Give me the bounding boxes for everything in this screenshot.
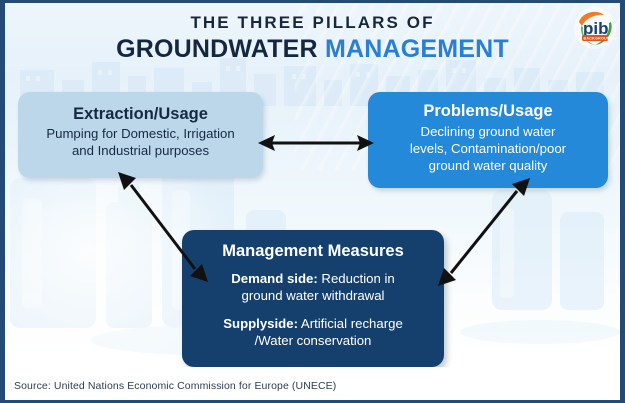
page-title: THE THREE PILLARS OF GROUNDWATER MANAGEM…: [0, 14, 625, 62]
source-attribution: Source: United Nations Economic Commissi…: [14, 380, 336, 392]
pillar-title-problems: Problems/Usage: [378, 102, 598, 121]
problems-line-2: levels, Contamination/poor: [410, 141, 566, 156]
management-demand-label: Demand side:: [231, 271, 317, 286]
pillar-title-management: Management Measures: [192, 242, 434, 261]
double-headed-diagonal-arrow-left-icon: [118, 172, 208, 282]
pillar-body-problems: Declining ground water levels, Contamina…: [378, 123, 598, 174]
title-main: GROUNDWATER MANAGEMENT: [0, 37, 625, 62]
management-supply-text2: /Water conservation: [255, 333, 372, 348]
title-word-management: MANAGEMENT: [325, 35, 509, 63]
double-headed-horizontal-arrow-icon: [258, 128, 374, 158]
pillar-box-extraction[interactable]: Extraction/Usage Pumping for Domestic, I…: [18, 92, 263, 178]
management-demand-text: Reduction in: [318, 271, 395, 286]
pillar-body-extraction: Pumping for Domestic, Irrigation and Ind…: [28, 126, 253, 160]
management-supply-label: Supplyside:: [223, 316, 298, 331]
pillar-box-problems[interactable]: Problems/Usage Declining ground water le…: [368, 92, 608, 188]
extraction-line-2: and Industrial purposes: [72, 143, 209, 158]
pillar-box-management[interactable]: Management Measures Demand side: Reducti…: [182, 230, 444, 367]
title-word-groundwater: GROUNDWATER: [116, 35, 318, 63]
border-top: [0, 0, 625, 3]
management-demand-text2: ground water withdrawal: [242, 288, 385, 303]
double-headed-diagonal-arrow-right-icon: [438, 178, 530, 286]
pillar-body-management: Demand side: Reduction in ground water w…: [192, 270, 434, 350]
pillar-title-extraction: Extraction/Usage: [28, 105, 253, 124]
problems-line-1: Declining ground water: [421, 124, 556, 139]
infographic-canvas: THE THREE PILLARS OF GROUNDWATER MANAGEM…: [0, 0, 625, 403]
problems-line-3: ground water quality: [429, 158, 548, 173]
svg-text:BACKGROUNDER: BACKGROUNDER: [584, 37, 618, 41]
extraction-line-1: Pumping for Domestic, Irrigation: [46, 126, 234, 141]
management-supply-text: Artificial recharge: [298, 316, 403, 331]
pib-logo-icon: pib BACKGROUNDER: [573, 6, 617, 50]
title-kicker: THE THREE PILLARS OF: [0, 14, 625, 31]
management-spacer: [192, 304, 434, 315]
